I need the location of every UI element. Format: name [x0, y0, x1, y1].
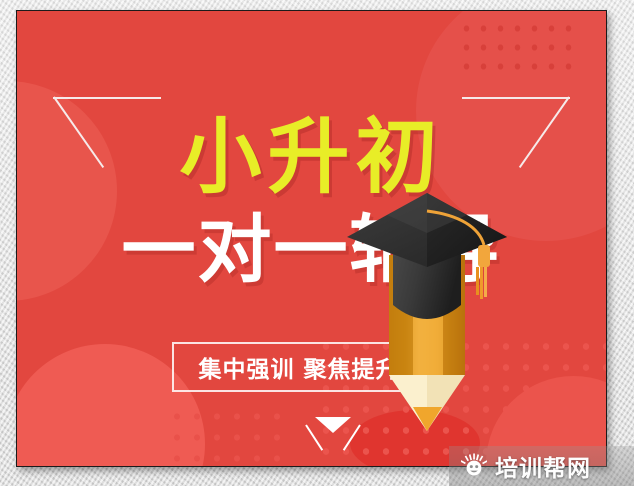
- watermark: 培训帮网: [449, 446, 634, 486]
- promo-poster: 小升初 一对一辅导 集中强训 聚焦提升: [16, 10, 607, 467]
- poster-title-primary: 小升初: [17, 117, 606, 199]
- graduation-cap-pencil-illustration: [347, 193, 507, 443]
- sun-face-icon: [461, 453, 487, 479]
- dot-grid-top-right-icon: [458, 19, 578, 77]
- watermark-text: 培训帮网: [495, 449, 591, 483]
- pencil-tip: [389, 375, 465, 431]
- poster-title-secondary: 一对一辅导: [17, 213, 606, 287]
- headline-block: 小升初 一对一辅导: [17, 117, 606, 287]
- dot-grid-bottom-left-icon: [167, 406, 287, 466]
